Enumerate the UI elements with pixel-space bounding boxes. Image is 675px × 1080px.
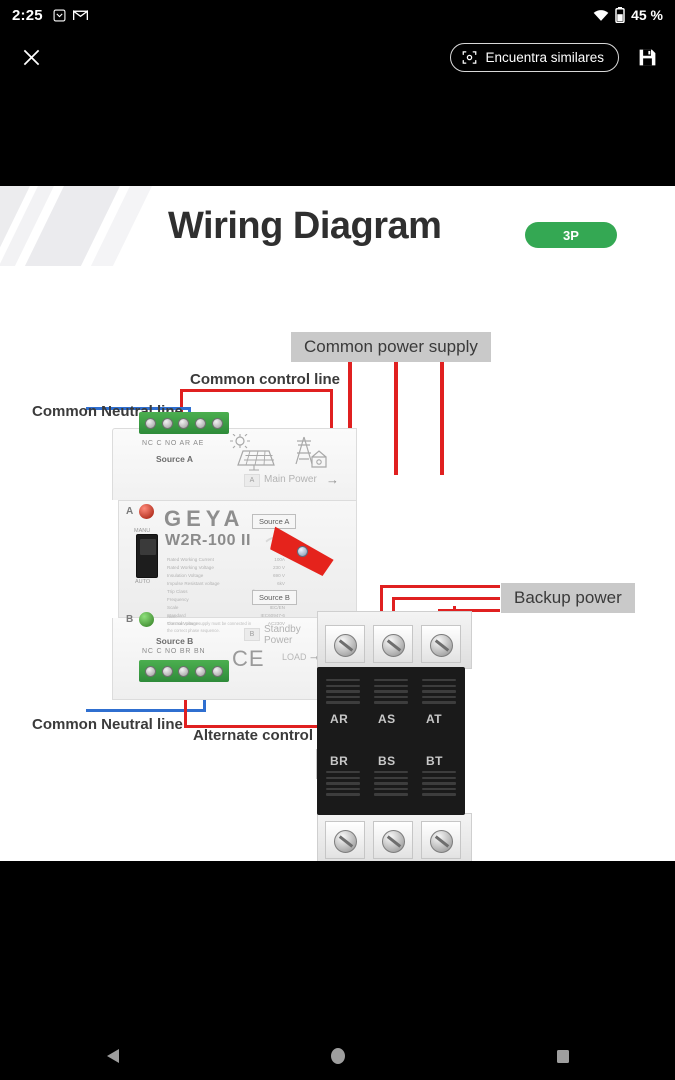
wire-control-h — [180, 389, 333, 392]
terminal-well-ar[interactable] — [325, 625, 365, 663]
terminal-screw — [145, 418, 156, 429]
gmail-icon — [73, 9, 88, 21]
page-title: Wiring Diagram — [168, 205, 441, 248]
toolbar-actions: Encuentra similares — [450, 43, 661, 72]
standby-power-chip: B — [244, 628, 260, 641]
poles-badge: 3P — [525, 222, 617, 248]
terminal-screw — [178, 418, 189, 429]
terminal-screw — [212, 666, 223, 677]
ats-device: NC C NO AR AE Source A A Main Power → A … — [112, 428, 472, 700]
terminal-well-br[interactable] — [325, 821, 365, 859]
spec-name: Rated Working Current — [167, 556, 214, 564]
main-power-chip: A — [244, 474, 260, 487]
terminal-screw-bs — [382, 830, 405, 853]
breaker-label-ar: AR — [330, 712, 348, 726]
main-power-label: Main Power — [264, 474, 317, 485]
spec-row: Scale IEC/EN — [167, 604, 285, 612]
note-title: Note: — [167, 613, 253, 620]
callout-backup-power: Backup power — [501, 583, 635, 613]
breaker-label-at: AT — [426, 712, 442, 726]
breaker-label-bs: BS — [378, 754, 396, 768]
save-icon — [637, 47, 658, 68]
terminal-screw — [162, 418, 173, 429]
indicator-led-a — [139, 504, 154, 519]
callout-common-power-supply: Common power supply — [291, 332, 491, 362]
wifi-icon — [593, 9, 609, 22]
breaker-label-bt: BT — [426, 754, 443, 768]
terminal-screw — [178, 666, 189, 677]
find-similar-button[interactable]: Encuentra similares — [450, 43, 619, 72]
terminal-screw — [195, 666, 206, 677]
handle-pivot-screw — [297, 546, 308, 557]
main-power-arrow: → — [326, 472, 339, 487]
indicator-b-letter: B — [126, 614, 133, 625]
spec-value: IEC60947-6 — [260, 612, 285, 620]
recents-square-icon — [556, 1049, 570, 1064]
load-mark: LOAD — [282, 652, 307, 662]
terminal-well-bs[interactable] — [373, 821, 413, 859]
three-pole-breaker: AR AS AT BR BS BT — [317, 611, 472, 861]
viewer-toolbar: Encuentra similares — [0, 30, 675, 85]
nav-back-button[interactable] — [89, 1032, 137, 1080]
terminal-well-as[interactable] — [373, 625, 413, 663]
close-icon — [22, 48, 41, 67]
brand-logo: GEYA — [164, 506, 244, 532]
source-b-label: Source B — [156, 636, 193, 646]
note-block: Note: The main power supply must be conn… — [167, 613, 253, 634]
manual-auto-switch[interactable] — [136, 534, 158, 578]
solar-panel-icon — [230, 434, 276, 472]
find-similar-label: Encuentra similares — [485, 50, 604, 65]
indicator-led-b — [139, 612, 154, 627]
terminal-screw-bt — [430, 830, 453, 853]
battery-percent: 45 % — [631, 7, 663, 23]
breaker-label-br: BR — [330, 754, 348, 768]
source-a-terminal-markings: NC C NO AR AE — [142, 440, 204, 447]
note-text: The main power supply must be connected … — [167, 620, 253, 634]
nav-home-button[interactable] — [314, 1032, 362, 1080]
home-circle-icon — [330, 1047, 346, 1065]
status-system-icons: 45 % — [593, 7, 663, 23]
lens-scan-icon — [462, 50, 477, 65]
label-common-control-line: Common control line — [190, 371, 340, 388]
spec-name: Trip Class — [167, 588, 188, 596]
terminal-screw-ar — [334, 634, 357, 657]
vent-slots — [374, 679, 408, 705]
source-a-terminal-block[interactable] — [139, 412, 229, 434]
source-b-terminal-block[interactable] — [139, 660, 229, 682]
switch-label-manu: MANU — [134, 528, 150, 534]
terminal-well-bt[interactable] — [421, 821, 461, 859]
terminal-screw-br — [334, 830, 357, 853]
spec-name: Frequency — [167, 596, 189, 604]
terminal-screw — [162, 666, 173, 677]
breaker-body: AR AS AT BR BS BT — [317, 667, 465, 815]
indicator-a-letter: A — [126, 506, 133, 517]
source-a-label: Source A — [156, 454, 193, 464]
source-b-badge: Source B — [252, 590, 297, 605]
spec-value: IEC/EN — [270, 604, 285, 612]
back-triangle-icon — [105, 1048, 120, 1064]
source-b-terminal-markings: NC C NO BR BN — [142, 648, 205, 655]
message-icon — [53, 9, 66, 22]
close-button[interactable] — [14, 41, 48, 75]
ce-mark: CE — [232, 646, 265, 672]
battery-icon — [615, 7, 625, 23]
android-nav-bar — [0, 1032, 675, 1080]
terminal-screw — [195, 418, 206, 429]
vent-slots — [422, 771, 456, 797]
terminal-screw — [145, 666, 156, 677]
vent-slots — [422, 679, 456, 705]
save-button[interactable] — [633, 44, 661, 72]
switch-label-auto: AUTO — [135, 579, 150, 585]
spec-name: Rated Working Voltage — [167, 564, 214, 572]
vent-slots — [326, 771, 360, 797]
model-number: W2R-100 II — [165, 532, 251, 550]
terminal-well-at[interactable] — [421, 625, 461, 663]
wiring-diagram-image[interactable]: Wiring Diagram 3P Common power supply Ba… — [0, 186, 675, 861]
terminal-screw-at — [430, 634, 453, 657]
power-tower-icon — [288, 434, 332, 472]
vent-slots — [374, 771, 408, 797]
spec-name: Insulation Voltage — [167, 572, 203, 580]
spec-name: Impulse Resistant voltage — [167, 580, 220, 588]
status-time: 2:25 — [12, 7, 43, 24]
vent-slots — [326, 679, 360, 705]
nav-recents-button[interactable] — [539, 1032, 587, 1080]
spec-name: Scale — [167, 604, 179, 612]
breaker-label-as: AS — [378, 712, 396, 726]
decorative-stripes — [0, 186, 160, 266]
label-common-neutral-line-bottom: Common Neutral line — [32, 716, 183, 733]
standby-power-label: Standby Power — [264, 624, 304, 646]
status-bar: 2:25 45 % — [0, 0, 675, 30]
wire-neutral-bot-h — [86, 709, 206, 712]
source-a-badge: Source A — [252, 514, 296, 529]
terminal-screw-as — [382, 634, 405, 657]
status-notification-icons — [53, 9, 88, 22]
terminal-screw — [212, 418, 223, 429]
